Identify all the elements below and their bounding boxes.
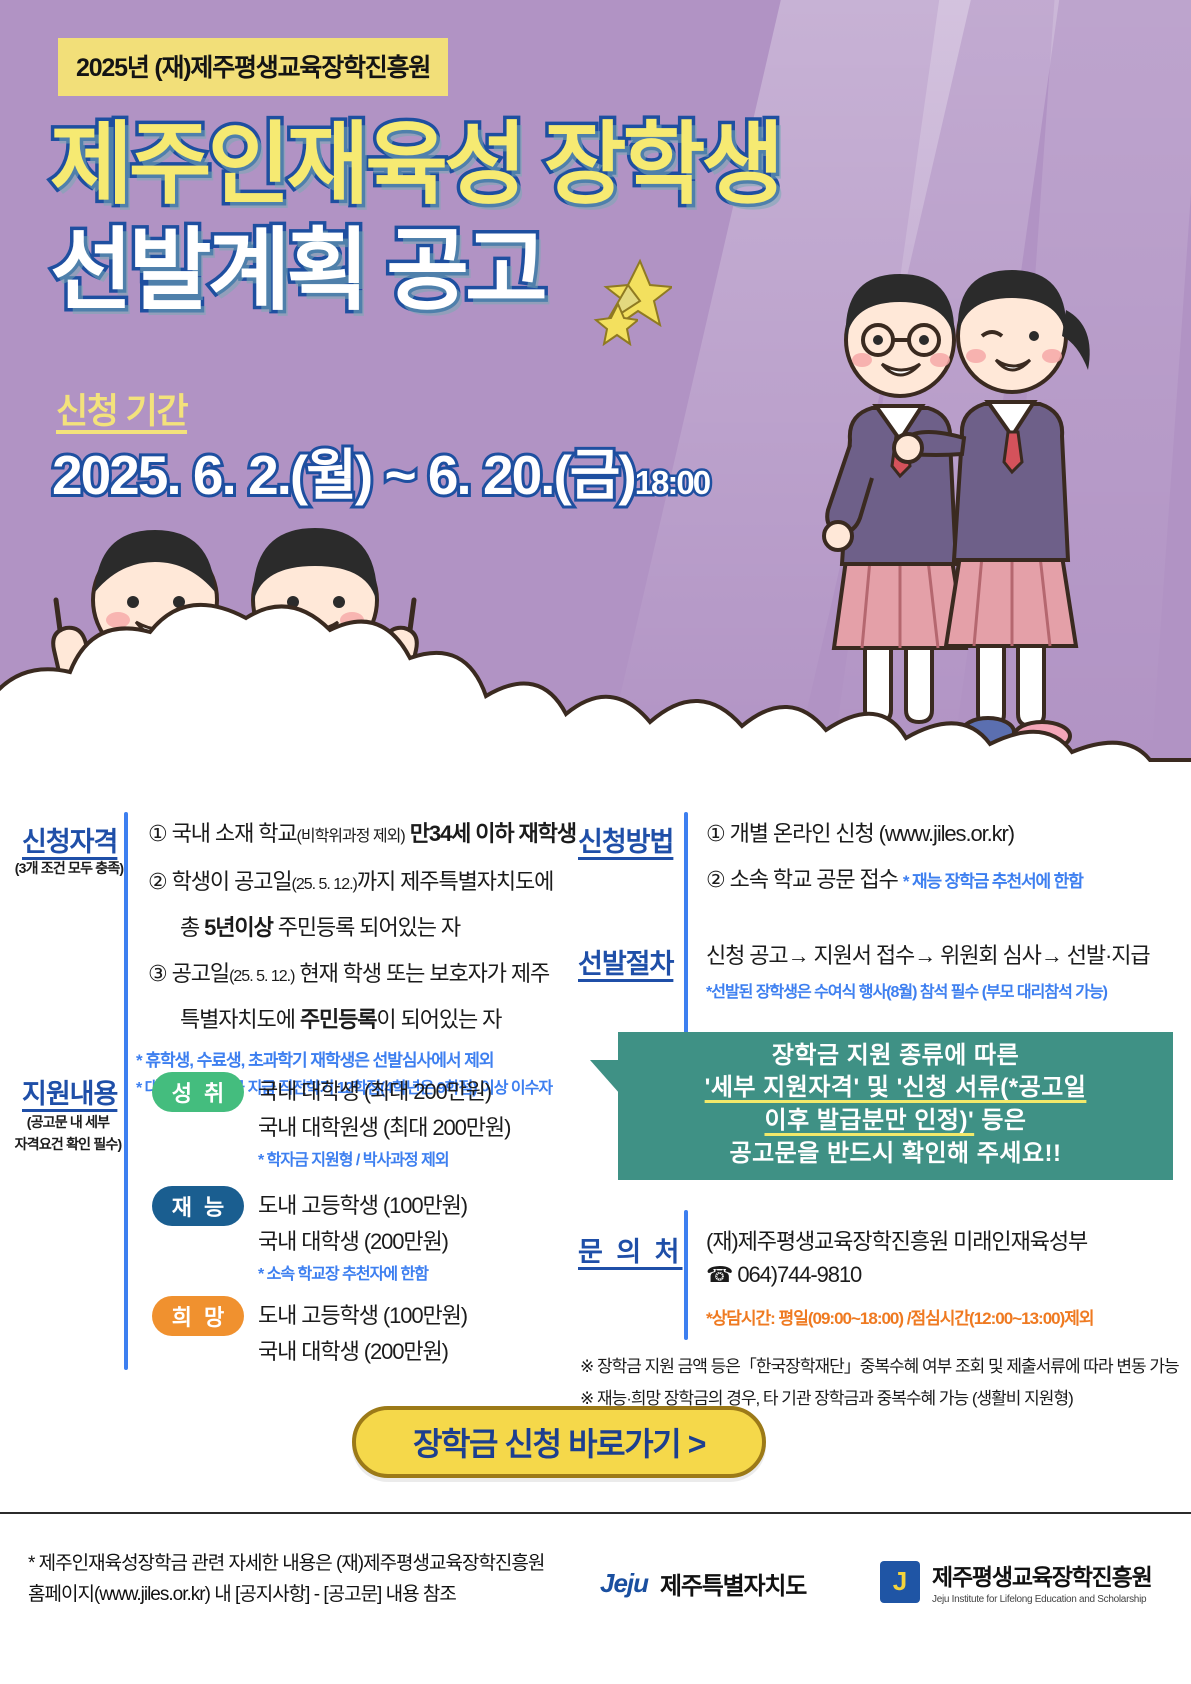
eligibility-subtitle: (3개 조건 모두 충족): [14, 858, 124, 878]
item-text-post: 까지 제주특별자치도에: [357, 869, 553, 894]
callout-line-1: 장학금 지원 종류에 따른: [772, 1040, 1019, 1073]
item-paren: (25. 5. 12.): [229, 968, 294, 985]
contact-phone: ☎ 064)744-9810: [706, 1262, 861, 1288]
item-number: ①: [148, 821, 167, 846]
callout-line-2: '세부 지원자격' 및 '신청 서류(*공고일: [705, 1072, 1087, 1105]
item-text: 학생이 공고일: [172, 869, 292, 894]
support-line: 도내 고등학생 (100만원): [258, 1298, 467, 1330]
support-line: 국내 대학생 (200만원): [258, 1334, 448, 1366]
callout-line-3: 이후 발급분만 인정)' 등은: [764, 1105, 1026, 1138]
jeju-logo-mark: Jeju: [600, 1568, 648, 1599]
callout-line-4: 공고문을 반드시 확인해 주세요!!: [729, 1138, 1061, 1171]
item-paren: (비학위과정 제외): [297, 828, 405, 845]
item-text-post: 주민등록 되어있는 자: [273, 915, 460, 940]
contact-org: (재)제주평생교육장학진흥원 미래인재육성부: [706, 1224, 1087, 1256]
support-pill-talent: 재 능: [152, 1186, 244, 1226]
support-subtitle-line2: 자격요건 확인 필수): [6, 1134, 130, 1154]
footer-note: * 제주인재육성장학금 관련 자세한 내용은 (재)제주평생교육장학진흥원 홈페…: [28, 1548, 544, 1611]
callout-line-3-underlined: 이후 발급분만 인정)': [764, 1107, 974, 1134]
item-number: ②: [148, 869, 167, 894]
procedure-note: *선발된 장학생은 수여식 행사(8월) 참석 필수 (부모 대리참석 가능): [706, 978, 1107, 1002]
support-line: 국내 대학생 (200만원): [258, 1224, 448, 1256]
page-title: 제주인재육성 장학생 선발계획 공고: [50, 112, 780, 324]
item-text-post: 현재 학생 또는 보호자가 제주: [294, 961, 549, 986]
item-text: ② 소속 학교 공문 접수: [706, 867, 898, 892]
eligibility-item-1: ① 국내 소재 학교(비학위과정 제외) 만34세 이하 재학생: [148, 816, 576, 848]
title-line-1: 제주인재육성 장학생: [50, 112, 780, 218]
support-note: * 소속 학교장 추천자에 한함: [258, 1260, 428, 1284]
eligibility-item-2: ② 학생이 공고일(25. 5. 12.)까지 제주특별자치도에: [148, 864, 553, 896]
title-line-2: 선발계획 공고: [50, 218, 780, 324]
apply-period-label: 신청 기간: [56, 383, 187, 434]
footer-section: * 제주인재육성장학금 관련 자세한 내용은 (재)제주평생교육장학진흥원 홈페…: [0, 1512, 1191, 1684]
support-line: 국내 대학원생 (최대 200만원): [258, 1110, 510, 1142]
contact-extra-note-1: ※ 장학금 지원 금액 등은「한국장학재단」중복수혜 여부 조회 및 제출서류에…: [580, 1352, 1179, 1377]
jeju-logo-name: 제주특별자치도: [660, 1566, 806, 1601]
organization-badge: 2025년 (재)제주평생교육장학진흥원: [58, 38, 448, 96]
eligibility-note-1: * 휴학생, 수료생, 초과학기 재학생은 선발심사에서 제외: [136, 1046, 493, 1071]
apply-deadline-time: 18:00: [635, 464, 709, 501]
eligibility-item-3-line2: 특별자치도에 주민등록이 되어있는 자: [180, 1002, 501, 1034]
eligibility-item-2-line2: 총 5년이상 주민등록 되어있는 자: [180, 910, 460, 942]
support-subtitle-line1: (공고문 내 세부: [6, 1112, 130, 1132]
item-strong: 만34세 이하 재학생: [410, 821, 576, 846]
how-to-apply-item-1: ① 개별 온라인 신청 (www.jiles.or.kr): [706, 816, 1014, 848]
contact-heading: 문 의 처: [578, 1230, 683, 1269]
jiles-logo-name: 제주평생교육장학진흥원: [932, 1558, 1152, 1592]
jiles-logo-text: 제주평생교육장학진흥원 Jeju Institute for Lifelong …: [932, 1558, 1152, 1605]
left-column-rule-2: [124, 1060, 128, 1370]
support-line: 국내 대학생 (최대 200만원): [258, 1074, 491, 1106]
footer-note-line-1: * 제주인재육성장학금 관련 자세한 내용은 (재)제주평생교육장학진흥원: [28, 1548, 544, 1579]
support-note: * 학자금 지원형 / 박사과정 제외: [258, 1146, 449, 1170]
eligibility-heading: 신청자격: [22, 820, 117, 859]
contact-hours: *상담시간: 평일(09:00~18:00) /점심시간(12:00~13:00…: [706, 1304, 1094, 1329]
item-strong: 5년이상: [204, 915, 273, 940]
item-text-post: 이 되어있는 자: [376, 1007, 501, 1032]
item-text: 총: [180, 915, 204, 940]
item-text: 국내 소재 학교: [172, 821, 297, 846]
item-number: ③: [148, 961, 167, 986]
eligibility-item-3: ③ 공고일(25. 5. 12.) 현재 학생 또는 보호자가 제주: [148, 956, 549, 988]
support-pill-achievement: 성 취: [152, 1072, 244, 1112]
support-pill-hope: 희 망: [152, 1296, 244, 1336]
right-column-rule-2: [684, 1210, 688, 1340]
hero-section: 2025년 (재)제주평생교육장학진흥원 제주인재육성 장학생 선발계획 공고 …: [0, 0, 1191, 790]
phone-icon: ☎: [706, 1262, 732, 1287]
callout-tail: [590, 1060, 620, 1094]
item-strong: 주민등록: [300, 1007, 377, 1032]
item-paren: (25. 5. 12.): [292, 876, 357, 893]
apply-now-button[interactable]: 장학금 신청 바로가기 >: [352, 1406, 766, 1478]
poster-root: 2025년 (재)제주평생교육장학진흥원 제주인재육성 장학생 선발계획 공고 …: [0, 0, 1191, 1684]
support-heading: 지원내용: [22, 1072, 117, 1111]
footer-note-line-2: 홈페이지(www.jiles.or.kr) 내 [공지사항] - [공고문] 내…: [28, 1579, 544, 1610]
how-to-apply-heading: 신청방법: [578, 820, 673, 859]
support-line: 도내 고등학생 (100만원): [258, 1188, 467, 1220]
cloud-decoration: [0, 546, 1191, 790]
item-text: 특별자치도에: [180, 1007, 300, 1032]
procedure-heading: 선발절차: [578, 942, 673, 981]
jiles-logo-mark: J: [880, 1561, 920, 1603]
callout-line-3-tail: 등은: [974, 1107, 1026, 1134]
phone-number: 064)744-9810: [737, 1262, 861, 1287]
procedure-flow: 신청 공고→ 지원서 접수→ 위원회 심사→ 선발·지급: [706, 938, 1150, 970]
how-to-apply-item-2: ② 소속 학교 공문 접수 * 재능 장학금 추천서에 한함: [706, 862, 1083, 894]
jiles-logo-subtitle: Jeju Institute for Lifelong Education an…: [932, 1594, 1152, 1605]
jeju-province-logo: Jeju 제주특별자치도: [600, 1566, 806, 1601]
item-text: 공고일: [172, 961, 229, 986]
item-note: * 재능 장학금 추천서에 한함: [903, 872, 1083, 891]
callout-box: 장학금 지원 종류에 따른 '세부 지원자격' 및 '신청 서류(*공고일 이후…: [618, 1032, 1173, 1180]
jiles-logo: J 제주평생교육장학진흥원 Jeju Institute for Lifelon…: [880, 1558, 1152, 1605]
